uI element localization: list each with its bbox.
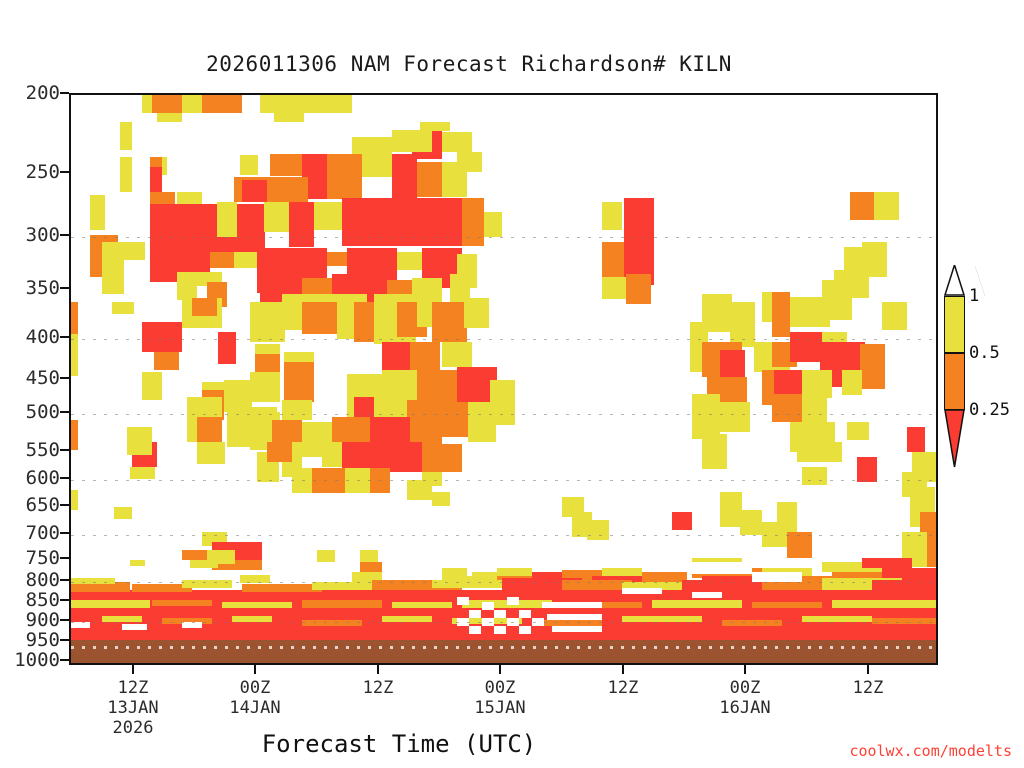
heatmap-cell: [624, 198, 654, 246]
heatmap-cell: [114, 507, 132, 519]
heatmap-cell: [802, 442, 842, 462]
heatmap-cell: [417, 162, 442, 197]
heatmap-cell: [907, 427, 925, 452]
heatmap-cell: [740, 510, 762, 535]
y-tick-label: 850: [26, 589, 60, 611]
y-tick-label: 750: [26, 547, 60, 569]
heatmap-cell: [70, 420, 78, 450]
heatmap-cell: [442, 568, 467, 576]
heatmap-cell: [314, 202, 342, 230]
heatmap-cell: [494, 610, 506, 618]
y-tick-label: 650: [26, 494, 60, 516]
x-tick-label: 00Z14JAN: [229, 678, 280, 718]
heatmap-cell: [397, 252, 422, 270]
heatmap-cell: [362, 154, 392, 176]
heatmap-cell: [360, 562, 382, 572]
heatmap-cell: [469, 626, 481, 634]
heatmap-cell: [862, 558, 912, 568]
y-tick-mark: [60, 449, 69, 451]
x-tick-label: 12Z: [608, 678, 639, 698]
heatmap-cell: [242, 584, 322, 592]
y-tick-label: 900: [26, 609, 60, 631]
heatmap-cell: [842, 370, 862, 395]
heatmap-cell: [519, 610, 531, 618]
heatmap-cell: [70, 600, 150, 608]
heatmap-cell: [112, 302, 134, 314]
heatmap-cell: [432, 492, 450, 506]
gridline-horizontal: [71, 237, 936, 238]
y-tick-label: 450: [26, 367, 60, 389]
heatmap-cell: [282, 400, 312, 420]
heatmap-cell: [720, 492, 742, 527]
heatmap-cell: [157, 113, 182, 122]
heatmap-cell: [762, 558, 812, 568]
colorbar-legend: 10.50.25: [944, 296, 965, 468]
heatmap-cell: [250, 302, 285, 342]
y-tick-label: 350: [26, 277, 60, 299]
heatmap-cell: [457, 152, 482, 172]
gridline-horizontal: [71, 622, 936, 623]
heatmap-cell: [240, 155, 258, 175]
y-tick-label: 800: [26, 569, 60, 591]
heatmap-cells: [71, 95, 936, 663]
heatmap-cell: [120, 122, 132, 150]
heatmap-cell: [802, 467, 827, 485]
y-tick-mark: [60, 377, 69, 379]
y-tick-label: 500: [26, 401, 60, 423]
x-tick-label: 12Z: [363, 678, 394, 698]
heatmap-cell: [190, 560, 218, 568]
colorbar-arrow-low: [944, 410, 965, 468]
y-tick-mark: [60, 336, 69, 338]
colorbar-arrow-high-outline: [944, 265, 965, 296]
gridline-horizontal: [71, 480, 936, 481]
heatmap-cell: [260, 95, 272, 113]
heatmap-cell: [587, 520, 609, 540]
heatmap-cell: [120, 242, 145, 260]
heatmap-cell: [547, 614, 602, 620]
heatmap-cell: [552, 626, 602, 632]
chart-title: 2026011306 NAM Forecast Richardson# KILN: [0, 52, 938, 76]
heatmap-cell: [484, 212, 502, 237]
x-tick-label: 12Z: [853, 678, 884, 698]
heatmap-cell: [410, 342, 440, 372]
heatmap-cell: [382, 370, 417, 400]
y-tick-label: 200: [26, 82, 60, 104]
heatmap-cell: [120, 157, 132, 192]
heatmap-cell: [642, 572, 687, 582]
y-tick-mark: [60, 532, 69, 534]
heatmap-cell: [152, 95, 182, 113]
x-tick-label: 12Z13JAN2026: [107, 678, 158, 738]
heatmap-cell: [850, 192, 875, 220]
gridline-horizontal: [71, 582, 936, 583]
y-tick-label: 700: [26, 522, 60, 544]
heatmap-cell: [250, 372, 280, 402]
heatmap-cell: [702, 434, 727, 469]
heatmap-cell: [197, 442, 225, 464]
colorbar-segment: [944, 296, 965, 353]
heatmap-cell: [302, 600, 382, 608]
heatmap-cell: [302, 302, 337, 334]
heatmap-cell: [70, 334, 78, 376]
x-tick-mark: [867, 665, 869, 674]
y-tick-label: 400: [26, 326, 60, 348]
heatmap-cell: [264, 202, 289, 232]
heatmap-cell: [218, 332, 236, 364]
heatmap-cell: [70, 578, 115, 584]
heatmap-cell: [142, 322, 182, 352]
watermark: coolwx.com/modelts: [849, 742, 1012, 760]
heatmap-cell: [130, 467, 155, 479]
y-tick-mark: [60, 599, 69, 601]
heatmap-cell: [284, 362, 314, 402]
heatmap-cell: [142, 95, 152, 113]
y-tick-label: 1000: [14, 649, 60, 671]
heatmap-cell: [622, 588, 662, 594]
x-tick-mark: [377, 665, 379, 674]
heatmap-cell: [857, 457, 877, 482]
heatmap-cell: [602, 242, 624, 282]
heatmap-cell: [832, 600, 938, 608]
heatmap-cell: [152, 600, 212, 606]
heatmap-cell: [234, 252, 259, 268]
heatmap-cell: [192, 298, 217, 316]
heatmap-cell: [270, 154, 305, 176]
heatmap-cell: [242, 180, 267, 202]
plot-area: [69, 93, 938, 665]
heatmap-cell: [752, 602, 822, 608]
gridline-horizontal: [71, 535, 936, 536]
heatmap-cell: [602, 202, 622, 230]
heatmap-cell: [154, 352, 179, 370]
y-tick-mark: [60, 287, 69, 289]
heatmap-cell: [519, 626, 531, 634]
heatmap-cell: [692, 562, 752, 574]
heatmap-cell: [90, 195, 105, 230]
heatmap-cell: [457, 597, 469, 605]
y-tick-label: 600: [26, 467, 60, 489]
x-tick-mark: [254, 665, 256, 674]
heatmap-cell: [442, 132, 472, 152]
x-tick-mark: [499, 665, 501, 674]
x-tick-label: 00Z16JAN: [719, 678, 770, 718]
heatmap-cell: [272, 95, 292, 113]
y-tick-mark: [60, 504, 69, 506]
y-tick-mark: [60, 557, 69, 559]
heatmap-cell: [507, 597, 519, 605]
x-axis-title: Forecast Time (UTC): [69, 730, 729, 758]
heatmap-cell: [542, 602, 602, 608]
heatmap-cell: [70, 302, 78, 334]
heatmap-cell: [462, 198, 484, 246]
colorbar-tick-label: 0.5: [969, 343, 1000, 363]
heatmap-cell: [122, 624, 147, 630]
heatmap-cell: [752, 572, 802, 582]
y-tick-mark: [60, 411, 69, 413]
heatmap-cell: [652, 600, 742, 608]
y-tick-mark: [60, 579, 69, 581]
heatmap-cell: [217, 202, 237, 237]
heatmap-cell: [327, 252, 347, 266]
heatmap-cell: [874, 192, 899, 220]
heatmap-cell: [847, 422, 869, 440]
heatmap-cell: [469, 610, 481, 618]
heatmap-cell: [882, 302, 907, 330]
x-tick-mark: [622, 665, 624, 674]
heatmap-cell: [730, 302, 755, 347]
heatmap-cell: [432, 302, 467, 342]
heatmap-cell: [182, 95, 202, 113]
heatmap-cell: [70, 490, 78, 510]
colorbar-tick-label: 0.25: [969, 400, 1010, 420]
heatmap-cell: [382, 342, 410, 372]
heatmap-cell: [464, 298, 489, 328]
y-tick-mark: [60, 171, 69, 173]
heatmap-cell: [130, 560, 145, 566]
heatmap-cell: [127, 427, 152, 455]
heatmap-cell: [468, 402, 496, 442]
heatmap-cell: [392, 602, 452, 608]
heatmap-cell: [327, 154, 362, 199]
x-tick-mark: [744, 665, 746, 674]
heatmap-cell: [150, 204, 265, 252]
terrain-gridline: [71, 646, 936, 649]
heatmap-cell: [860, 344, 885, 389]
heatmap-cell: [210, 252, 235, 268]
heatmap-cell: [692, 394, 720, 439]
heatmap-cell: [292, 95, 352, 113]
y-tick-label: 950: [26, 629, 60, 651]
terrain-band: [71, 640, 936, 663]
y-tick-mark: [60, 234, 69, 236]
heatmap-cell: [692, 592, 722, 598]
heatmap-cell: [872, 618, 938, 624]
y-tick-mark: [60, 92, 69, 94]
chart-figure: 2026011306 NAM Forecast Richardson# KILN…: [0, 0, 1024, 768]
gridline-horizontal: [71, 339, 936, 340]
heatmap-cell: [267, 442, 292, 462]
heatmap-cell: [392, 130, 432, 152]
heatmap-cell: [268, 177, 308, 202]
y-tick-mark: [60, 619, 69, 621]
heatmap-cell: [322, 442, 342, 467]
heatmap-cell: [222, 95, 242, 113]
heatmap-cell: [412, 278, 442, 302]
heatmap-cell: [672, 512, 692, 530]
heatmap-cell: [317, 550, 335, 562]
heatmap-cell: [312, 582, 372, 590]
heatmap-cell: [422, 472, 442, 486]
heatmap-cell: [772, 292, 790, 337]
y-tick-label: 250: [26, 161, 60, 183]
y-tick-mark: [60, 659, 69, 661]
heatmap-cell: [722, 620, 782, 626]
heatmap-cell: [289, 202, 314, 247]
heatmap-cell: [422, 444, 462, 472]
heatmap-cell: [392, 154, 417, 199]
heatmap-cell: [442, 342, 472, 367]
heatmap-cell: [342, 198, 462, 246]
y-tick-label: 550: [26, 439, 60, 461]
heatmap-cell: [802, 370, 832, 398]
heatmap-cell: [844, 247, 869, 277]
x-tick-label: 00Z15JAN: [474, 678, 525, 718]
y-tick-mark: [60, 477, 69, 479]
heatmap-cell: [202, 95, 222, 113]
gridline-horizontal: [71, 414, 936, 415]
heatmap-cell: [222, 602, 292, 608]
heatmap-cell: [626, 274, 651, 304]
heatmap-cell: [274, 113, 304, 122]
y-tick-mark: [60, 639, 69, 641]
heatmap-cell: [302, 620, 362, 626]
y-tick-label: 300: [26, 224, 60, 246]
heatmap-cell: [142, 372, 162, 400]
colorbar-tick-label: 1: [969, 286, 979, 306]
heatmap-cell: [182, 550, 207, 560]
heatmap-cell: [494, 626, 506, 634]
heatmap-cell: [177, 192, 202, 204]
colorbar-segment: [944, 353, 965, 410]
y-axis-labels: 2002503003504004505005506006507007508008…: [0, 0, 60, 768]
heatmap-cell: [482, 602, 494, 610]
heatmap-cell: [150, 157, 162, 167]
x-tick-mark: [132, 665, 134, 674]
